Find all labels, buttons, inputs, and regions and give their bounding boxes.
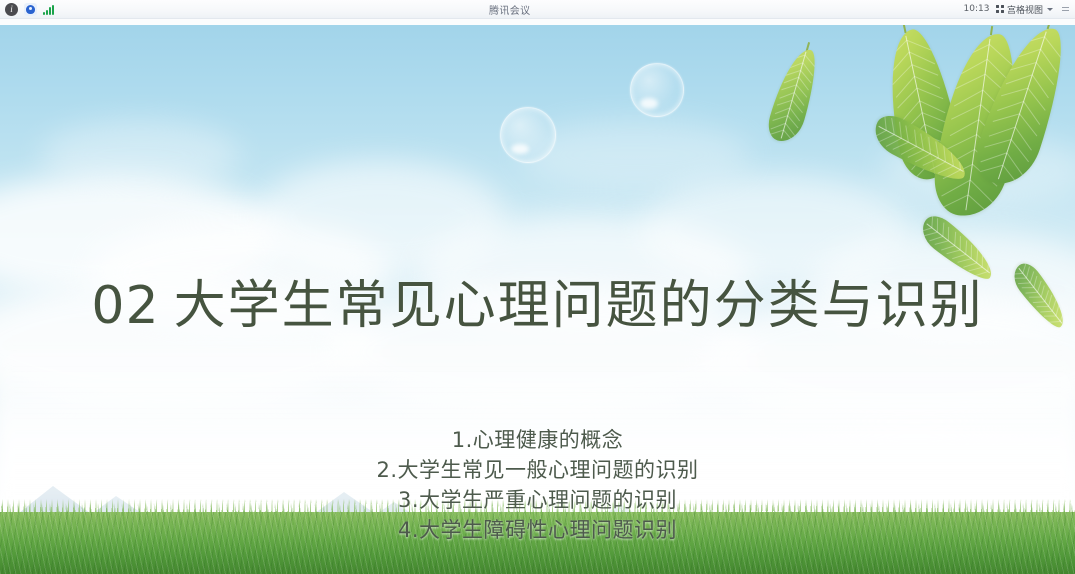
- more-options-icon[interactable]: [1060, 7, 1070, 11]
- slide-title: 02大学生常见心理问题的分类与识别: [0, 277, 1075, 337]
- view-layout-selector[interactable]: 宫格视图: [996, 3, 1053, 16]
- titlebar-center: 腾讯会议: [56, 2, 964, 17]
- soap-bubble-icon: [500, 107, 556, 163]
- list-item: 4.大学生障碍性心理问题识别: [0, 515, 1075, 545]
- view-layout-label: 宫格视图: [1007, 3, 1043, 16]
- cloud-shape: [40, 120, 240, 190]
- slide-agenda-list: 1.心理健康的概念 2.大学生常见一般心理问题的识别 3.大学生严重心理问题的识…: [0, 425, 1075, 545]
- grid-view-icon: [996, 5, 1004, 13]
- window-title: 腾讯会议: [489, 2, 531, 17]
- chevron-down-icon: [1047, 8, 1053, 11]
- list-item: 2.大学生常见一般心理问题的识别: [0, 455, 1075, 485]
- tencent-meeting-window: 腾讯会议 10:13 宫格视图: [0, 0, 1075, 574]
- slide-title-text: 大学生常见心理问题的分类与识别: [174, 276, 984, 336]
- shared-presentation-slide[interactable]: 02大学生常见心理问题的分类与识别 1.心理健康的概念 2.大学生常见一般心理问…: [0, 25, 1075, 574]
- meeting-time: 10:13: [964, 4, 990, 14]
- slide-section-number: 02: [91, 276, 159, 336]
- leaf-icon: [764, 44, 823, 146]
- titlebar-slide-divider: [0, 19, 1075, 25]
- soap-bubble-icon: [630, 63, 684, 117]
- security-shield-icon[interactable]: [24, 3, 37, 16]
- list-item: 1.心理健康的概念: [0, 425, 1075, 455]
- info-icon[interactable]: [5, 3, 18, 16]
- list-item: 3.大学生严重心理问题的识别: [0, 485, 1075, 515]
- titlebar-right-controls: 10:13 宫格视图: [964, 3, 1075, 16]
- network-signal-icon[interactable]: [43, 2, 56, 16]
- window-title-bar: 腾讯会议 10:13 宫格视图: [0, 0, 1075, 19]
- titlebar-left-icons: [0, 2, 56, 16]
